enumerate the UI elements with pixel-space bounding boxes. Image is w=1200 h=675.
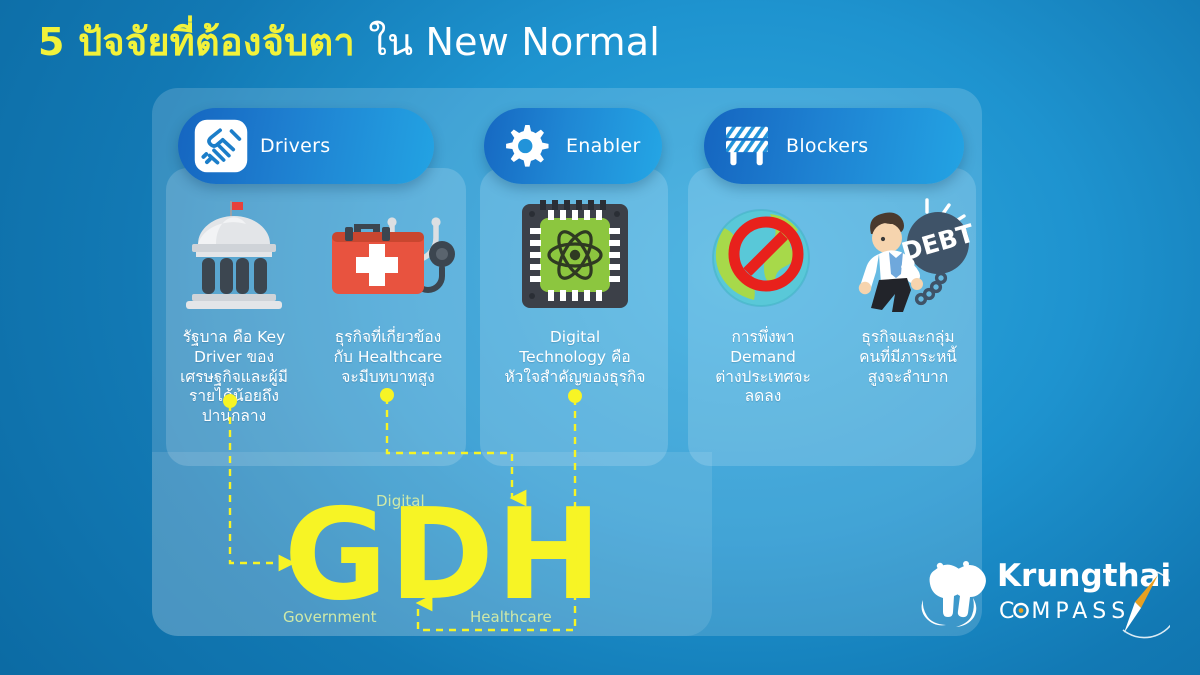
item-digital: Digital Technology คือ หัวใจสำคัญของธุรก…: [482, 196, 668, 387]
item-demand: การพึ่งพา Demand ต่างประเทศจะ ลดลง: [694, 196, 832, 407]
page-title-english: ใน New Normal: [368, 20, 660, 64]
medical-kit-stethoscope-icon: [312, 196, 464, 316]
page-title: 5 ปัจจัยที่ต้องจับตา ใน New Normal: [38, 22, 660, 64]
item-healthcare: ธุรกิจที่เกี่ยวข้อง กับ Healthcare จะมีบ…: [312, 196, 464, 387]
twin-elephants-emblem: [922, 561, 986, 627]
category-pill-blockers[interactable]: Blockers: [704, 108, 964, 184]
category-label-blockers: Blockers: [786, 135, 869, 157]
gear-icon: [496, 115, 558, 177]
item-government: รัฐบาล คือ Key Driver ของ เศรษฐกิจและผู้…: [160, 196, 308, 427]
businessman-debt-ball-icon: DEBT: [834, 196, 982, 316]
item-caption: ธุรกิจที่เกี่ยวข้อง กับ Healthcare จะมีบ…: [312, 328, 464, 387]
microchip-atom-icon: [482, 196, 668, 316]
logo-name-secondary: C MPASS: [999, 599, 1130, 624]
item-caption: ธุรกิจและกลุ่ม คนที่มีภาระหนี้ สูงจะลำบา…: [834, 328, 982, 387]
acronym-label-healthcare: Healthcare: [470, 608, 552, 626]
category-label-enabler: Enabler: [566, 135, 641, 157]
infographic-canvas: 5 ปัจจัยที่ต้องจับตา ใน New Normal: [0, 0, 1200, 675]
logo-name-primary: Krungthai: [997, 558, 1170, 594]
barricade-icon: [716, 115, 778, 177]
item-debt: DEBT ธุรกิจและกลุ่ม คนที่มีภาระหนี้ สูงจ…: [834, 196, 982, 387]
page-title-thai: 5 ปัจจัยที่ต้องจับตา: [38, 20, 355, 64]
item-caption: การพึ่งพา Demand ต่างประเทศจะ ลดลง: [694, 328, 832, 407]
krungthai-compass-logo: Krungthai C MPASS: [905, 548, 1170, 648]
acronym-label-digital: Digital: [376, 492, 425, 510]
globe-prohibited-icon: [694, 196, 832, 316]
category-label-drivers: Drivers: [260, 135, 330, 157]
acronym-label-government: Government: [283, 608, 377, 626]
government-building-icon: [160, 196, 308, 316]
category-pill-drivers[interactable]: Drivers: [178, 108, 434, 184]
category-pill-enabler[interactable]: Enabler: [484, 108, 662, 184]
item-caption: รัฐบาล คือ Key Driver ของ เศรษฐกิจและผู้…: [160, 328, 308, 427]
item-caption: Digital Technology คือ หัวใจสำคัญของธุรก…: [482, 328, 668, 387]
acronym-gdh: GDH: [284, 492, 603, 618]
handshake-icon: [190, 115, 252, 177]
